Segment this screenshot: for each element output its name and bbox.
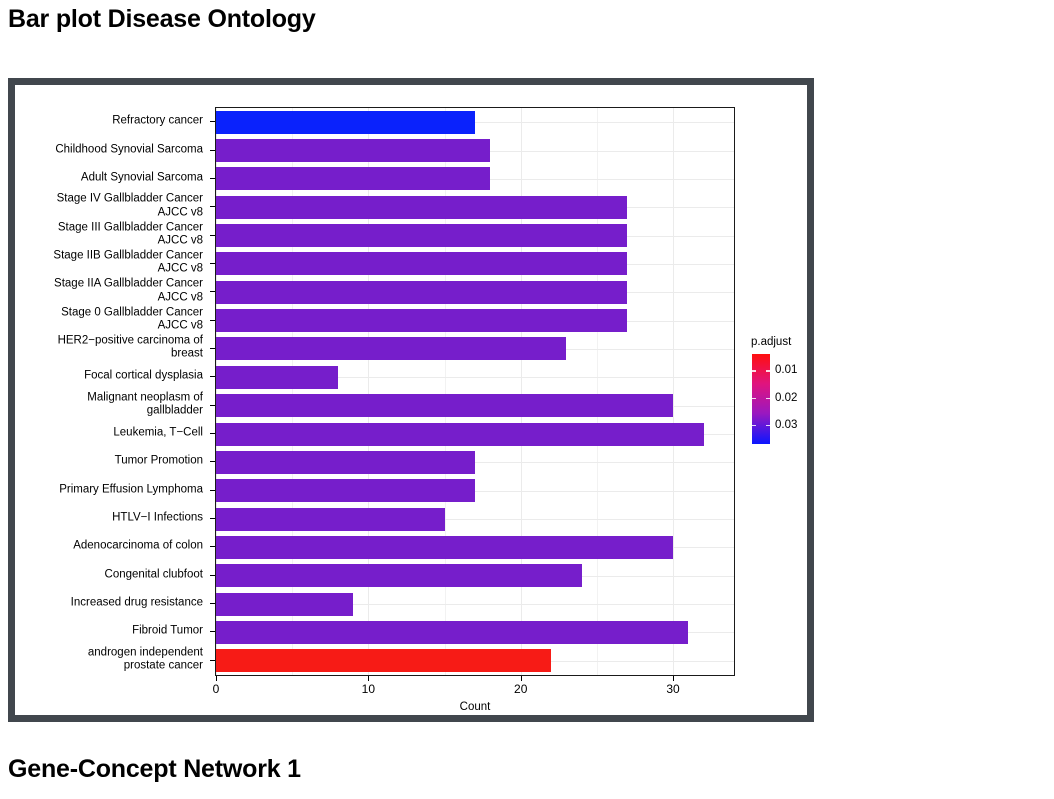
y-axis-tick-mark (210, 546, 215, 547)
gridline-vertical-minor (292, 108, 293, 675)
y-axis-tick-label: Stage 0 Gallbladder Cancer AJCC v8 (61, 306, 203, 333)
y-axis-tick-mark (210, 263, 215, 264)
y-axis-tick-label: Congenital clubfoot (105, 568, 203, 582)
y-axis-tick-label: Focal cortical dysplasia (84, 370, 203, 384)
y-axis-tick-label: Primary Effusion Lymphoma (59, 483, 203, 497)
y-axis-tick-mark (210, 235, 215, 236)
y-axis-tick-label: Tumor Promotion (115, 455, 203, 469)
x-axis-tick-label: 20 (514, 682, 527, 696)
x-axis-tick-label: 10 (362, 682, 375, 696)
y-axis-tick-label: androgen independent prostate cancer (88, 646, 203, 673)
x-axis-tick-label: 30 (666, 682, 679, 696)
y-axis-tick-mark (210, 490, 215, 491)
x-axis-tick-mark (673, 676, 674, 681)
bar (216, 536, 673, 559)
bar (216, 621, 688, 644)
gridline-vertical-minor (597, 108, 598, 675)
bar (216, 593, 353, 616)
page-title-gene-concept-network: Gene-Concept Network 1 (8, 755, 301, 784)
y-axis-tick-mark (210, 178, 215, 179)
y-axis-tick-label: Stage IV Gallbladder Cancer AJCC v8 (57, 193, 203, 220)
y-axis-tick-mark (210, 150, 215, 151)
legend-tick-mark (766, 425, 770, 427)
y-axis-tick-label: Adult Synovial Sarcoma (81, 171, 203, 185)
y-axis-tick-mark (210, 631, 215, 632)
legend-tick-label: 0.01 (775, 364, 797, 376)
x-axis-tick-label: 0 (213, 682, 220, 696)
gridline-vertical (521, 108, 522, 675)
gridline-vertical (216, 108, 217, 675)
bar (216, 394, 673, 417)
legend-tick-label: 0.02 (775, 392, 797, 404)
plot-panel (215, 107, 735, 676)
y-axis-tick-label: Refractory cancer (112, 114, 203, 128)
legend-tick-mark (752, 425, 756, 427)
legend-tick-mark (752, 398, 756, 400)
y-axis-tick-mark (210, 320, 215, 321)
plot-canvas: androgen independent prostate cancerFibr… (15, 85, 807, 715)
legend-title: p.adjust (751, 336, 815, 348)
y-axis-tick-label: Fibroid Tumor (132, 625, 203, 639)
y-axis-tick-mark (210, 461, 215, 462)
gridline-vertical (368, 108, 369, 675)
x-axis-tick-mark (521, 676, 522, 681)
y-axis-tick-mark (210, 348, 215, 349)
y-axis-tick-label: Malignant neoplasm of gallbladder (87, 391, 203, 418)
bar-plot-figure: androgen independent prostate cancerFibr… (8, 78, 814, 722)
x-axis-title: Count (215, 701, 735, 713)
bar (216, 111, 475, 134)
bar (216, 337, 566, 360)
y-axis-tick-label: HTLV−I Infections (112, 511, 203, 525)
x-axis-tick-mark (216, 676, 217, 681)
gridline-vertical-minor (445, 108, 446, 675)
bar (216, 479, 475, 502)
gridline-vertical (673, 108, 674, 675)
bar (216, 224, 627, 247)
bar (216, 139, 490, 162)
bar (216, 309, 627, 332)
bar (216, 366, 338, 389)
legend-tick-mark (766, 398, 770, 400)
y-axis-tick-mark (210, 206, 215, 207)
y-axis-tick-mark (210, 660, 215, 661)
bar (216, 281, 627, 304)
y-axis-labels: androgen independent prostate cancerFibr… (15, 107, 209, 676)
bar (216, 649, 551, 672)
y-axis-tick-label: Leukemia, T−Cell (113, 426, 203, 440)
page-title-bar-plot: Bar plot Disease Ontology (8, 5, 316, 34)
y-axis-tick-mark (210, 376, 215, 377)
y-axis-tick-mark (210, 518, 215, 519)
bar (216, 423, 704, 446)
legend-p-adjust: p.adjust 0.010.020.03 (745, 336, 815, 444)
y-axis-tick-mark (210, 121, 215, 122)
y-axis-tick-label: Stage III Gallbladder Cancer AJCC v8 (58, 221, 203, 248)
bar (216, 564, 582, 587)
y-axis-tick-mark (210, 575, 215, 576)
y-axis-tick-label: HER2−positive carcinoma of breast (58, 334, 203, 361)
x-axis-tick-mark (368, 676, 369, 681)
bar (216, 252, 627, 275)
y-axis-tick-label: Stage IIA Gallbladder Cancer AJCC v8 (54, 278, 203, 305)
y-axis-tick-label: Childhood Synovial Sarcoma (55, 143, 203, 157)
legend-tick-mark (752, 370, 756, 372)
y-axis-tick-mark (210, 405, 215, 406)
y-axis-tick-label: Increased drug resistance (71, 596, 203, 610)
legend-tick-label: 0.03 (775, 419, 797, 431)
bar (216, 508, 445, 531)
y-axis-tick-label: Stage IIB Gallbladder Cancer AJCC v8 (53, 249, 203, 276)
y-axis-tick-mark (210, 433, 215, 434)
bar (216, 167, 490, 190)
legend-tick-mark (766, 370, 770, 372)
y-axis-tick-mark (210, 291, 215, 292)
legend-colorbar-wrapper: 0.010.020.03 (745, 354, 815, 444)
y-axis-tick-label: Adenocarcinoma of colon (73, 540, 203, 554)
bar (216, 451, 475, 474)
y-axis-tick-mark (210, 603, 215, 604)
bar (216, 196, 627, 219)
